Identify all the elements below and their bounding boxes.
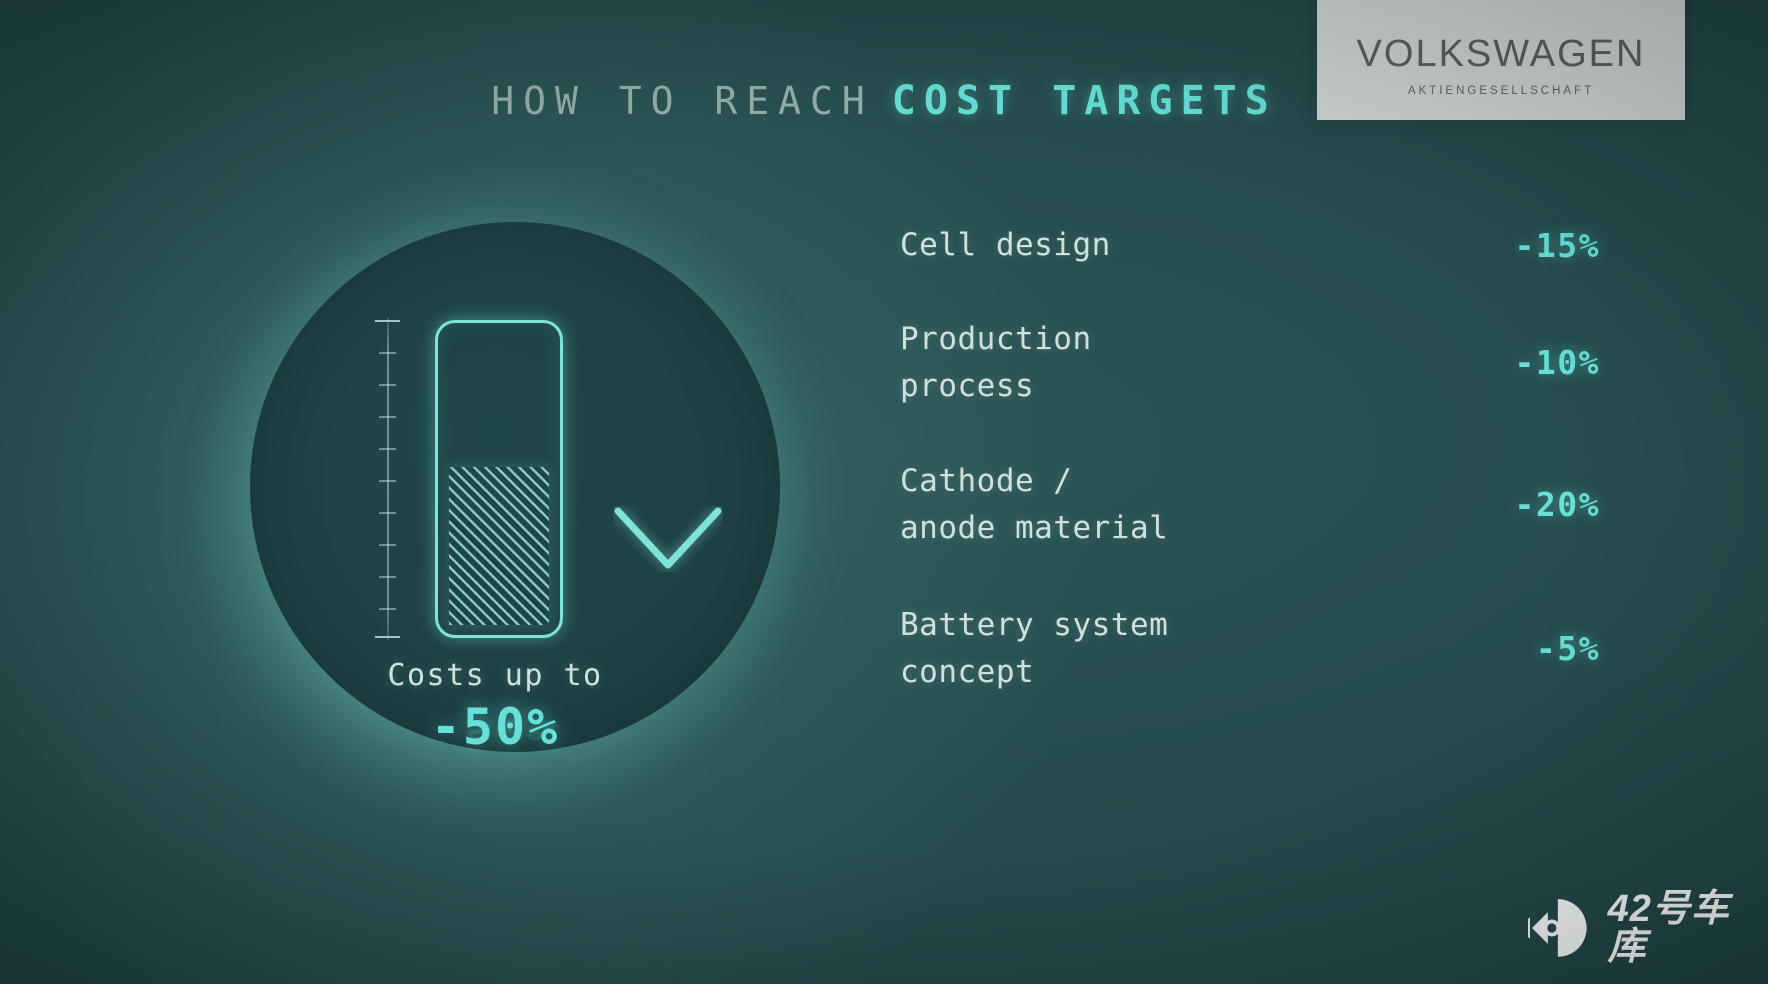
savings-value: -5% <box>1410 629 1600 668</box>
ruler-tick <box>379 544 396 546</box>
ruler-tick <box>379 352 396 354</box>
savings-value: -20% <box>1410 485 1600 524</box>
list-item: Cathode / anode material -20% <box>900 458 1600 551</box>
gauge-caption: Costs up to <box>145 658 845 693</box>
ruler-tick <box>379 384 396 386</box>
chevron-down-icon <box>613 506 723 572</box>
list-item: Cell design -15% <box>900 222 1600 269</box>
list-item: Battery system concept -5% <box>900 602 1600 695</box>
savings-value: -10% <box>1410 343 1600 382</box>
ruler-tick <box>379 448 396 450</box>
savings-label: Battery system concept <box>900 602 1410 695</box>
savings-value: -15% <box>1410 226 1600 265</box>
ruler-tick <box>379 416 396 418</box>
ruler-tick <box>375 636 400 638</box>
title-muted-part: HOW TO REACH <box>491 79 874 123</box>
savings-label: Cell design <box>900 222 1410 269</box>
title-accent-part: COST TARGETS <box>892 78 1277 124</box>
gauge-ruler-scale <box>371 318 405 640</box>
watermark-logo-icon <box>1528 897 1594 959</box>
page-title: HOW TO REACHCOST TARGETS <box>0 78 1768 124</box>
savings-label: Cathode / anode material <box>900 458 1410 551</box>
savings-label: Production process <box>900 316 1410 409</box>
ruler-tick <box>375 320 400 322</box>
slide-root: VOLKSWAGEN AKTIENGESELLSCHAFT HOW TO REA… <box>0 0 1768 984</box>
ruler-tick <box>379 480 396 482</box>
battery-container-icon <box>435 320 563 638</box>
logo-wordmark: VOLKSWAGEN <box>1357 35 1646 73</box>
gauge-graphic: Costs up to -50% -50% <box>145 170 845 870</box>
ruler-tick <box>379 512 396 514</box>
gauge-total-value: -50% <box>145 698 845 756</box>
channel-watermark: 42号车库 <box>1528 896 1768 960</box>
ruler-tick <box>379 608 396 610</box>
ruler-tick <box>379 576 396 578</box>
battery-fill-level <box>449 467 549 625</box>
ruler-spine <box>387 318 389 640</box>
watermark-text: 42号车库 <box>1608 890 1768 966</box>
list-item: Production process -10% <box>900 316 1600 409</box>
